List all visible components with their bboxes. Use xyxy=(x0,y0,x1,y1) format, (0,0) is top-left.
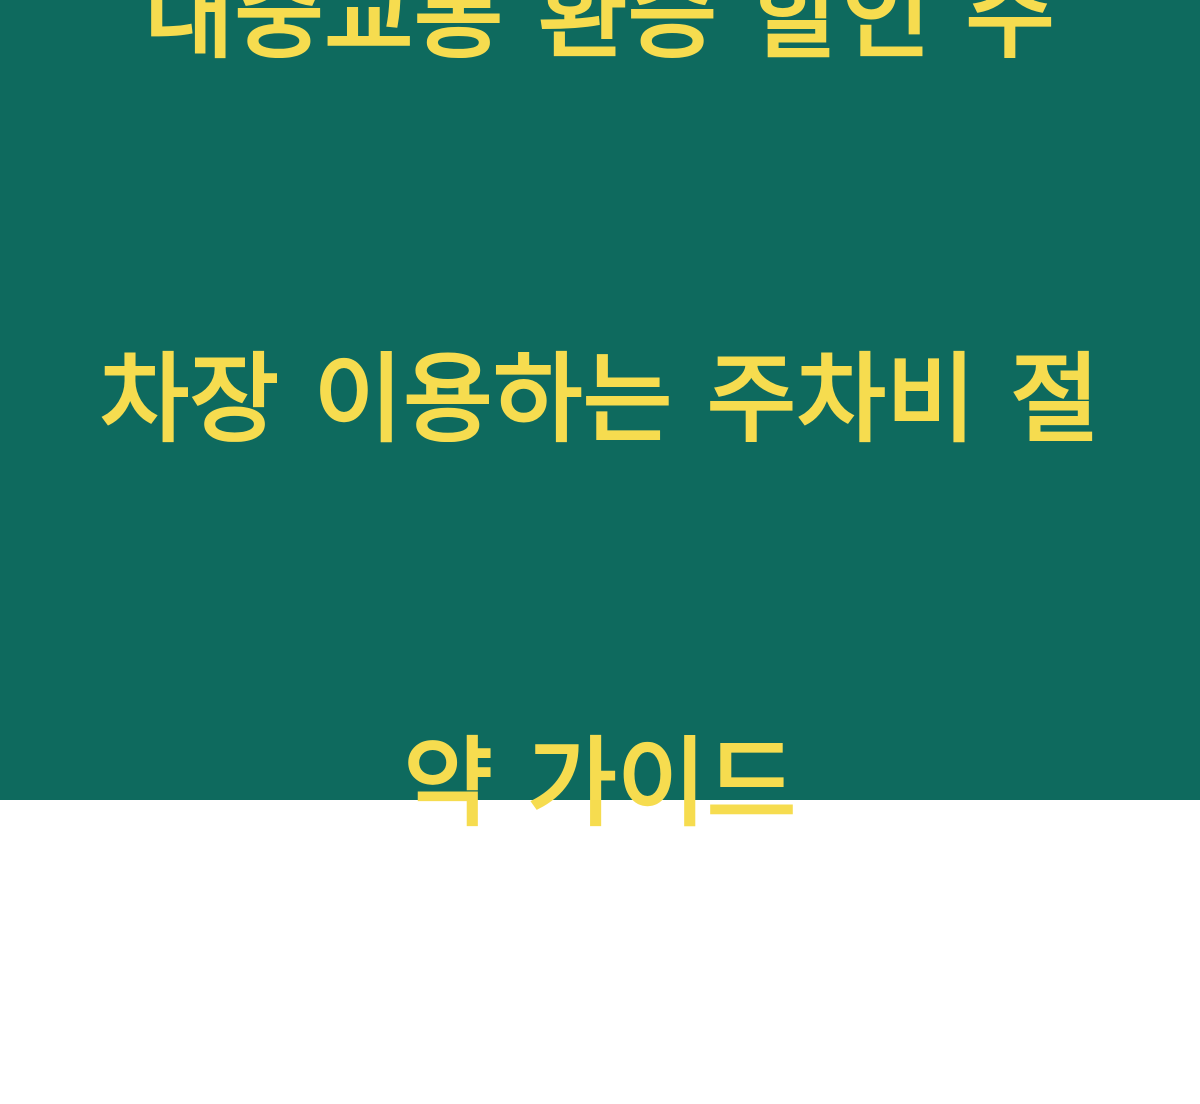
title-card: 대중교통 환승 할인 주 차장 이용하는 주차비 절 약 가이드 xyxy=(0,0,1200,800)
page-title-line-1: 대중교통 환승 할인 주 xyxy=(85,0,1115,80)
page-title-line-2: 차장 이용하는 주차비 절 xyxy=(85,336,1115,464)
page-title: 대중교통 환승 할인 주 차장 이용하는 주차비 절 약 가이드 xyxy=(85,0,1115,1104)
page-title-line-3: 약 가이드 xyxy=(85,720,1115,848)
